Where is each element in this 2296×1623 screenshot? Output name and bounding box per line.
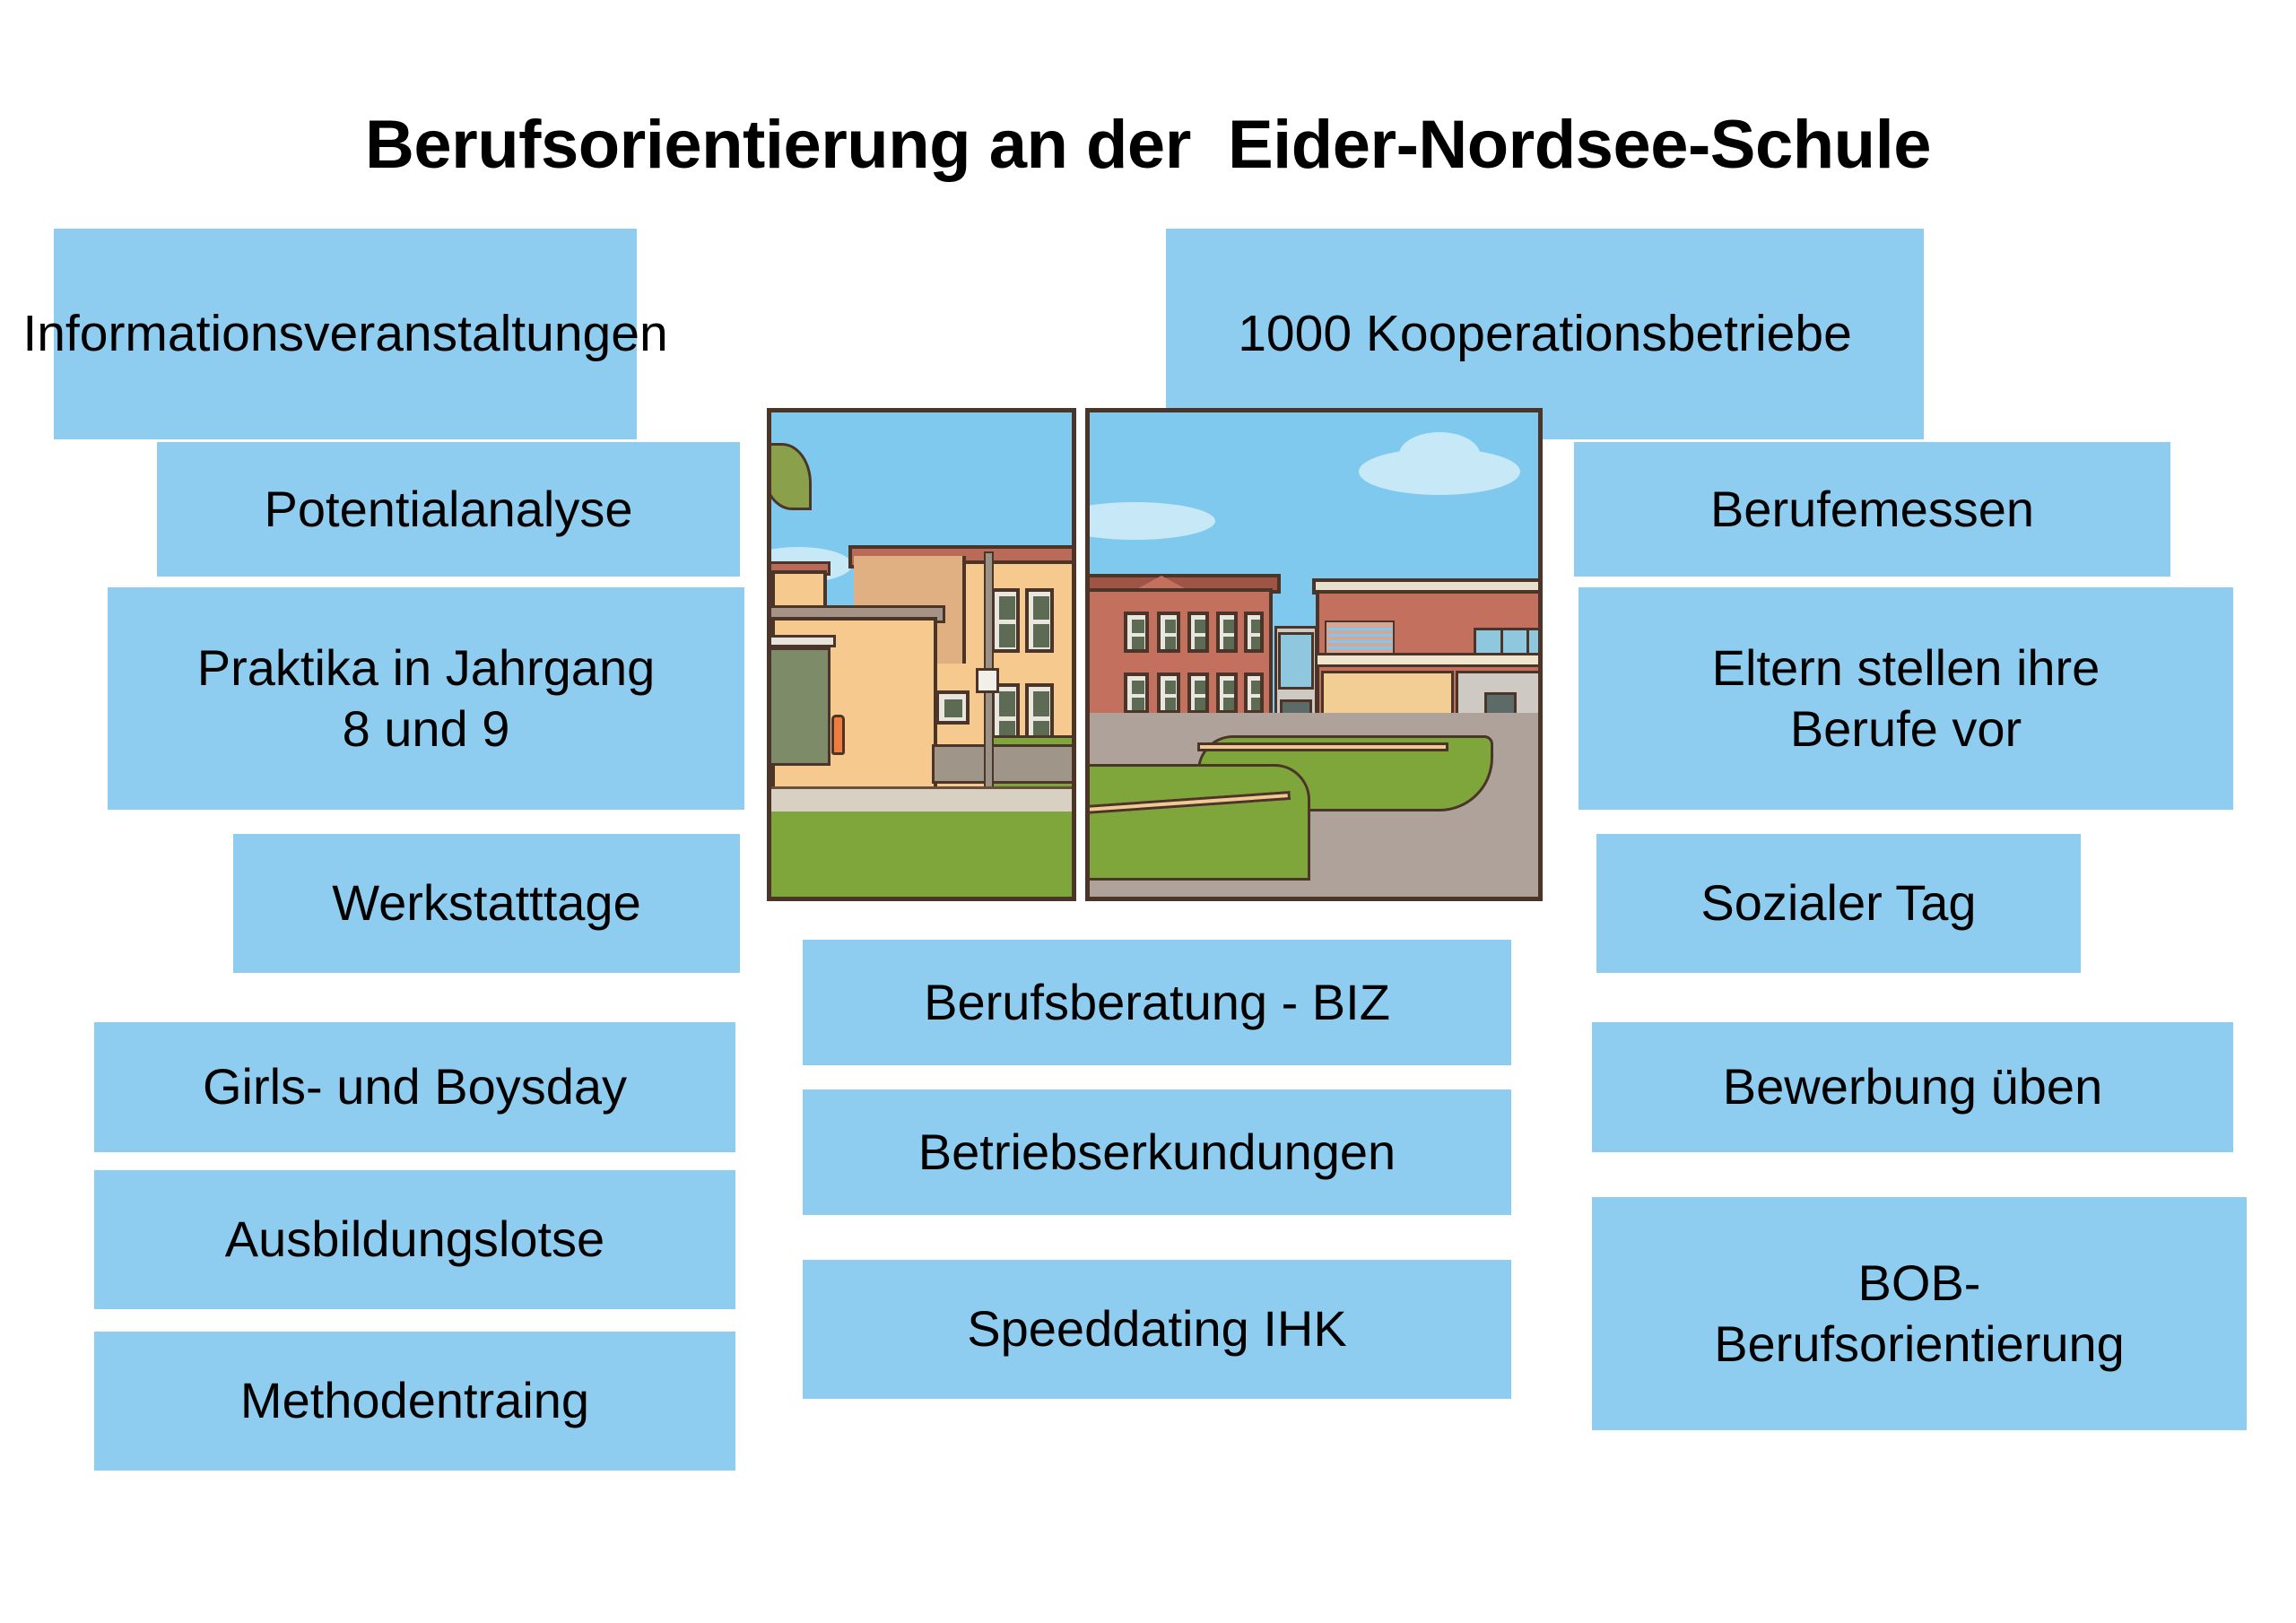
topic-box-praktika-jahrgang-8-9[interactable]: Praktika in Jahrgang 8 und 9 <box>108 587 744 810</box>
window-icon <box>1244 673 1264 714</box>
window-icon <box>1124 612 1149 653</box>
cloud-icon <box>1399 432 1480 477</box>
topic-box-betriebserkundungen[interactable]: Betriebserkundungen <box>803 1089 1511 1215</box>
fence <box>932 744 1076 784</box>
topic-box-sozialer-tag[interactable]: Sozialer Tag <box>1596 834 2081 973</box>
topic-box-berufsberatung-biz[interactable]: Berufsberatung - BIZ <box>803 940 1511 1065</box>
wall-box-icon <box>976 668 999 693</box>
window-icon <box>1025 588 1054 653</box>
facade-band <box>1316 653 1543 667</box>
topic-box-berufemessen[interactable]: Berufemessen <box>1574 442 2170 577</box>
page-title: Berufsorientierung an der Eider-Nordsee-… <box>0 106 2296 184</box>
handrail <box>1197 742 1448 751</box>
ground-grass <box>771 811 1072 897</box>
window-icon <box>935 690 970 725</box>
topic-box-speeddating-ihk[interactable]: Speeddating IHK <box>803 1260 1511 1399</box>
fire-extinguisher-icon <box>831 715 845 755</box>
window-icon <box>1244 612 1264 653</box>
topic-box-eltern-stellen-berufe-vor[interactable]: Eltern stellen ihre Berufe vor <box>1578 587 2233 810</box>
poster-canvas: Berufsorientierung an der Eider-Nordsee-… <box>0 0 2296 1623</box>
topic-box-girls-und-boysday[interactable]: Girls- und Boysday <box>94 1022 735 1152</box>
window-icon <box>1187 612 1209 653</box>
window-icon <box>1216 612 1238 653</box>
topic-box-werkstatttage[interactable]: Werkstatttage <box>233 834 740 973</box>
school-building-illustration-left <box>767 408 1076 901</box>
school-building-illustration-right <box>1085 408 1543 901</box>
entrance-canopy <box>767 635 836 647</box>
topic-box-informationsveranstaltungen[interactable]: Informationsveranstaltungen <box>54 229 637 439</box>
school-photos <box>767 408 1543 901</box>
lawn <box>1086 764 1310 881</box>
window-icon <box>1157 673 1180 714</box>
window-icon <box>991 588 1020 653</box>
glass-facade <box>768 647 831 766</box>
window-icon <box>1157 612 1180 653</box>
window-icon <box>1187 673 1209 714</box>
topic-box-bob-berufsorientierung[interactable]: BOB- Berufsorientierung <box>1592 1197 2247 1430</box>
topic-box-bewerbung-ueben[interactable]: Bewerbung üben <box>1592 1022 2233 1152</box>
topic-box-ausbildungslotse[interactable]: Ausbildungslotse <box>94 1170 735 1309</box>
topic-box-methodentraing[interactable]: Methodentraing <box>94 1332 735 1471</box>
window-icon <box>1216 673 1238 714</box>
topic-box-potentialanalyse[interactable]: Potentialanalyse <box>157 442 740 577</box>
window-icon <box>1124 673 1149 714</box>
entrance-glass <box>1278 632 1314 690</box>
